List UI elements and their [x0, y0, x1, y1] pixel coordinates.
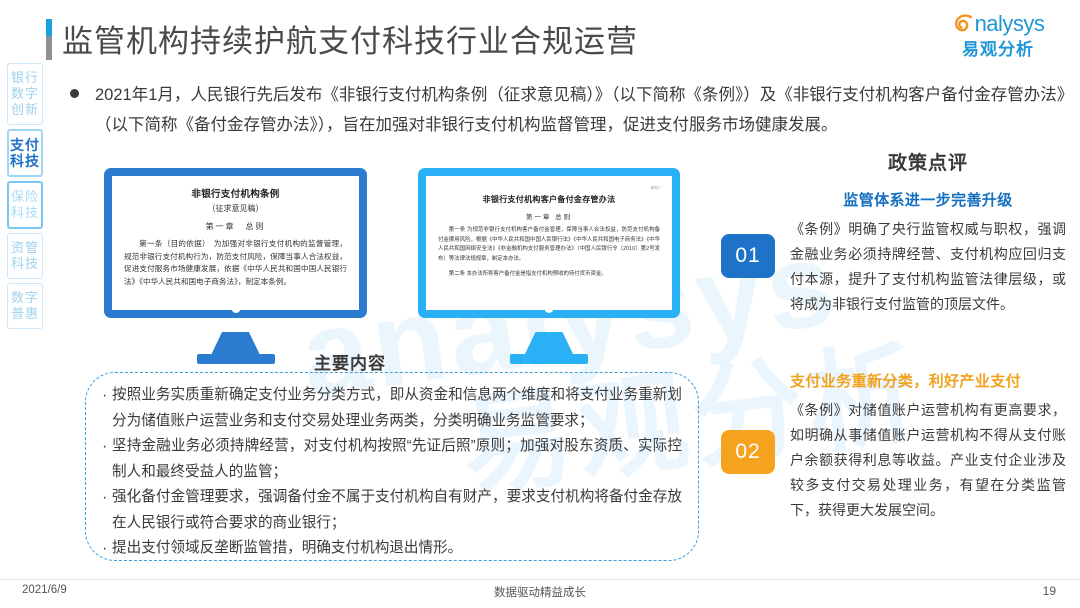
- analysys-swirl-icon: [952, 13, 974, 35]
- list-bullet-icon: ·: [102, 383, 112, 434]
- list-bullet-icon: ·: [102, 485, 112, 536]
- doc-chapter: 第一章 总则: [124, 221, 347, 232]
- monitor-right-document: 附件2 非银行支付机构客户备付金存管办法 第一章 总则 第一条 为规范非银行支付…: [426, 176, 672, 310]
- doc-chapter: 第一章 总则: [438, 211, 660, 221]
- logo-cn-text: 易观分析: [938, 39, 1058, 61]
- badge-02: 02: [721, 430, 775, 474]
- doc-body: 第一条 为规范非银行支付机构客户备付金管理，保障当事人合法权益，防范支付机构备付…: [438, 226, 660, 264]
- main-content-label: 主要内容: [0, 349, 700, 374]
- list-item: · 提出支付领域反垄断监管措，明确支付机构退出情形。: [102, 536, 682, 562]
- logo-en-text: nalysys: [975, 13, 1045, 35]
- sidebar-item-label: 数字普惠: [8, 290, 42, 322]
- sidebar-item-insurance-tech[interactable]: 保险科技: [7, 181, 43, 229]
- sidebar-item-asset-management-tech[interactable]: 资管科技: [7, 233, 43, 279]
- list-item-text: 提出支付领域反垄断监管措，明确支付机构退出情形。: [112, 536, 682, 562]
- monitor-left: 非银行支付机构条例 （征求意见稿） 第一章 总则 第一条（目的依据） 为加强对非…: [104, 168, 367, 364]
- sidebar-item-label: 保险科技: [9, 189, 41, 221]
- main-content-box: · 按照业务实质重新确定支付业务分类方式，即从资金和信息两个维度和将支付业务重新…: [85, 372, 699, 561]
- intro-bullet-text: 2021年1月，人民银行先后发布《非银行支付机构条例（征求意见稿）》（以下简称《…: [95, 80, 1065, 140]
- list-item: · 强化备付金管理要求，强调备付金不属于支付机构自有财产，要求支付机构将备付金存…: [102, 485, 682, 536]
- doc-body: 第一条（目的依据） 为加强对非银行支付机构的监督管理，规范非银行支付机构行为，防…: [124, 238, 347, 288]
- footer-divider: [0, 579, 1080, 580]
- list-item-text: 坚持金融业务必须持牌经营，对支付机构按照“先证后照”原则；加强对股东资质、实际控…: [112, 434, 682, 485]
- doc-subtitle: （征求意见稿）: [124, 203, 347, 214]
- list-item-text: 强化备付金管理要求，强调备付金不属于支付机构自有财产，要求支付机构将备付金存放在…: [112, 485, 682, 536]
- monitor-left-document: 非银行支付机构条例 （征求意见稿） 第一章 总则 第一条（目的依据） 为加强对非…: [112, 176, 359, 310]
- bullet-dot-icon: [70, 89, 79, 98]
- doc-title: 非银行支付机构条例: [124, 186, 347, 200]
- monitor-left-screen: 非银行支付机构条例 （征求意见稿） 第一章 总则 第一条（目的依据） 为加强对非…: [104, 168, 367, 318]
- sidebar-item-label: 资管科技: [8, 240, 42, 272]
- sidebar-item-payment-tech[interactable]: 支付科技: [7, 129, 43, 177]
- commentary-body-1: 《条例》明确了央行监管权威与职权，强调金融业务必须持牌经营、支付机构应回归支付本…: [790, 217, 1066, 317]
- analysys-logo: nalysys 易观分析: [938, 10, 1058, 64]
- commentary-panel-1: 政策点评 监管体系进一步完善升级 《条例》明确了央行监管权威与职权，强调金融业务…: [790, 148, 1066, 317]
- title-accent-bar: [46, 19, 52, 60]
- doc-body-2: 第二条 本办法所称客户备付金是指支付机构预收的待付货币资金。: [438, 270, 660, 280]
- commentary-title: 政策点评: [790, 148, 1066, 175]
- monitor-power-dot-icon: [545, 304, 554, 313]
- commentary-heading-1: 监管体系进一步完善升级: [790, 189, 1066, 210]
- monitor-right-neck: [418, 318, 680, 332]
- list-item: · 坚持金融业务必须持牌经营，对支付机构按照“先证后照”原则；加强对股东资质、实…: [102, 434, 682, 485]
- doc-stamp: 附件2: [438, 186, 660, 191]
- intro-bullet: 2021年1月，人民银行先后发布《非银行支付机构条例（征求意见稿）》（以下简称《…: [70, 80, 1065, 140]
- commentary-heading-2: 支付业务重新分类，利好产业支付: [790, 370, 1066, 391]
- sidebar-nav[interactable]: 银行数字创新 支付科技 保险科技 资管科技 数字普惠: [7, 63, 45, 333]
- doc-title: 非银行支付机构客户备付金存管办法: [438, 194, 660, 205]
- sidebar-item-label: 银行数字创新: [8, 70, 42, 118]
- list-bullet-icon: ·: [102, 434, 112, 485]
- monitor-right-screen: 附件2 非银行支付机构客户备付金存管办法 第一章 总则 第一条 为规范非银行支付…: [418, 168, 680, 318]
- slide-root: analysys 易观分析 监管机构持续护航支付科技行业合规运营 nalysys…: [0, 0, 1080, 608]
- list-item: · 按照业务实质重新确定支付业务分类方式，即从资金和信息两个维度和将支付业务重新…: [102, 383, 682, 434]
- list-bullet-icon: ·: [102, 536, 112, 562]
- badge-01: 01: [721, 234, 775, 278]
- commentary-body-2: 《条例》对储值账户运营机构有更高要求，如明确从事储值账户运营机构不得从支付账户余…: [790, 398, 1066, 523]
- monitor-left-neck: [104, 318, 367, 332]
- monitor-power-dot-icon: [231, 304, 240, 313]
- sidebar-item-label: 支付科技: [9, 137, 41, 169]
- sidebar-item-digital-inclusive-finance[interactable]: 数字普惠: [7, 283, 43, 329]
- footer-slogan: 数据驱动精益成长: [0, 584, 1080, 600]
- commentary-panel-2: 支付业务重新分类，利好产业支付 《条例》对储值账户运营机构有更高要求，如明确从事…: [790, 370, 1066, 523]
- page-title: 监管机构持续护航支付科技行业合规运营: [62, 16, 638, 61]
- monitor-right: 附件2 非银行支付机构客户备付金存管办法 第一章 总则 第一条 为规范非银行支付…: [418, 168, 680, 364]
- sidebar-item-bank-digital-innovation[interactable]: 银行数字创新: [7, 63, 43, 125]
- list-item-text: 按照业务实质重新确定支付业务分类方式，即从资金和信息两个维度和将支付业务重新划分…: [112, 383, 682, 434]
- footer-page-number: 19: [1043, 584, 1056, 598]
